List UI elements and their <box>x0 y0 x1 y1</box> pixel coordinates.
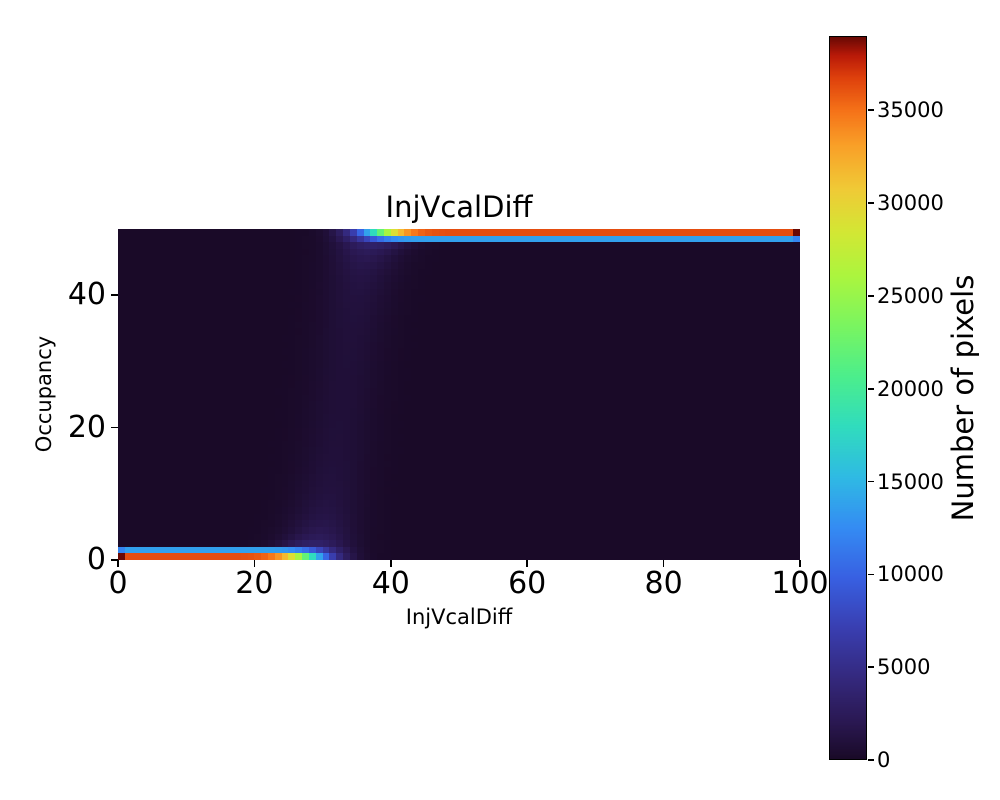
colorbar-tick-label: 0 <box>877 748 890 772</box>
colorbar-tick-mark <box>868 109 874 111</box>
colorbar-tick-mark <box>868 759 874 761</box>
colorbar-tick-label: 25000 <box>877 284 944 308</box>
y-tick-label: 20 <box>68 411 106 445</box>
colorbar-tick-label: 5000 <box>877 655 930 679</box>
colorbar-tick-label: 30000 <box>877 191 944 215</box>
heatmap-axes[interactable] <box>118 229 800 560</box>
colorbar-tick-mark <box>868 574 874 576</box>
y-tick-mark <box>111 294 118 296</box>
colorbar-label: Number of pixels <box>946 275 980 522</box>
colorbar-tick-mark <box>868 481 874 483</box>
x-tick-label: 100 <box>771 567 828 601</box>
y-tick-label: 40 <box>68 278 106 312</box>
colorbar-tick-label: 15000 <box>877 470 944 494</box>
colorbar-tick-label: 20000 <box>877 377 944 401</box>
figure-canvas: InjVcalDiff 020406080100 InjVcalDiff 020… <box>0 0 1000 800</box>
y-tick-mark <box>111 427 118 429</box>
colorbar-gradient <box>830 37 866 759</box>
colorbar-tick-mark <box>868 295 874 297</box>
x-tick-label: 0 <box>108 567 127 601</box>
colorbar-tick-mark <box>868 388 874 390</box>
colorbar-tick-label: 35000 <box>877 98 944 122</box>
page-title: InjVcalDiff <box>118 190 800 224</box>
x-tick-label: 60 <box>508 567 546 601</box>
colorbar-tick-mark <box>868 666 874 668</box>
y-tick-label: 0 <box>87 543 106 577</box>
x-tick-label: 40 <box>372 567 410 601</box>
colorbar-tick-mark <box>868 202 874 204</box>
y-axis-label: Occupancy <box>31 336 57 452</box>
heatmap-image <box>118 229 800 560</box>
x-tick-label: 20 <box>235 567 273 601</box>
colorbar[interactable] <box>829 36 867 760</box>
x-tick-label: 80 <box>645 567 683 601</box>
y-tick-mark <box>111 559 118 561</box>
x-axis-label: InjVcalDiff <box>118 604 800 630</box>
colorbar-tick-label: 10000 <box>877 562 944 586</box>
